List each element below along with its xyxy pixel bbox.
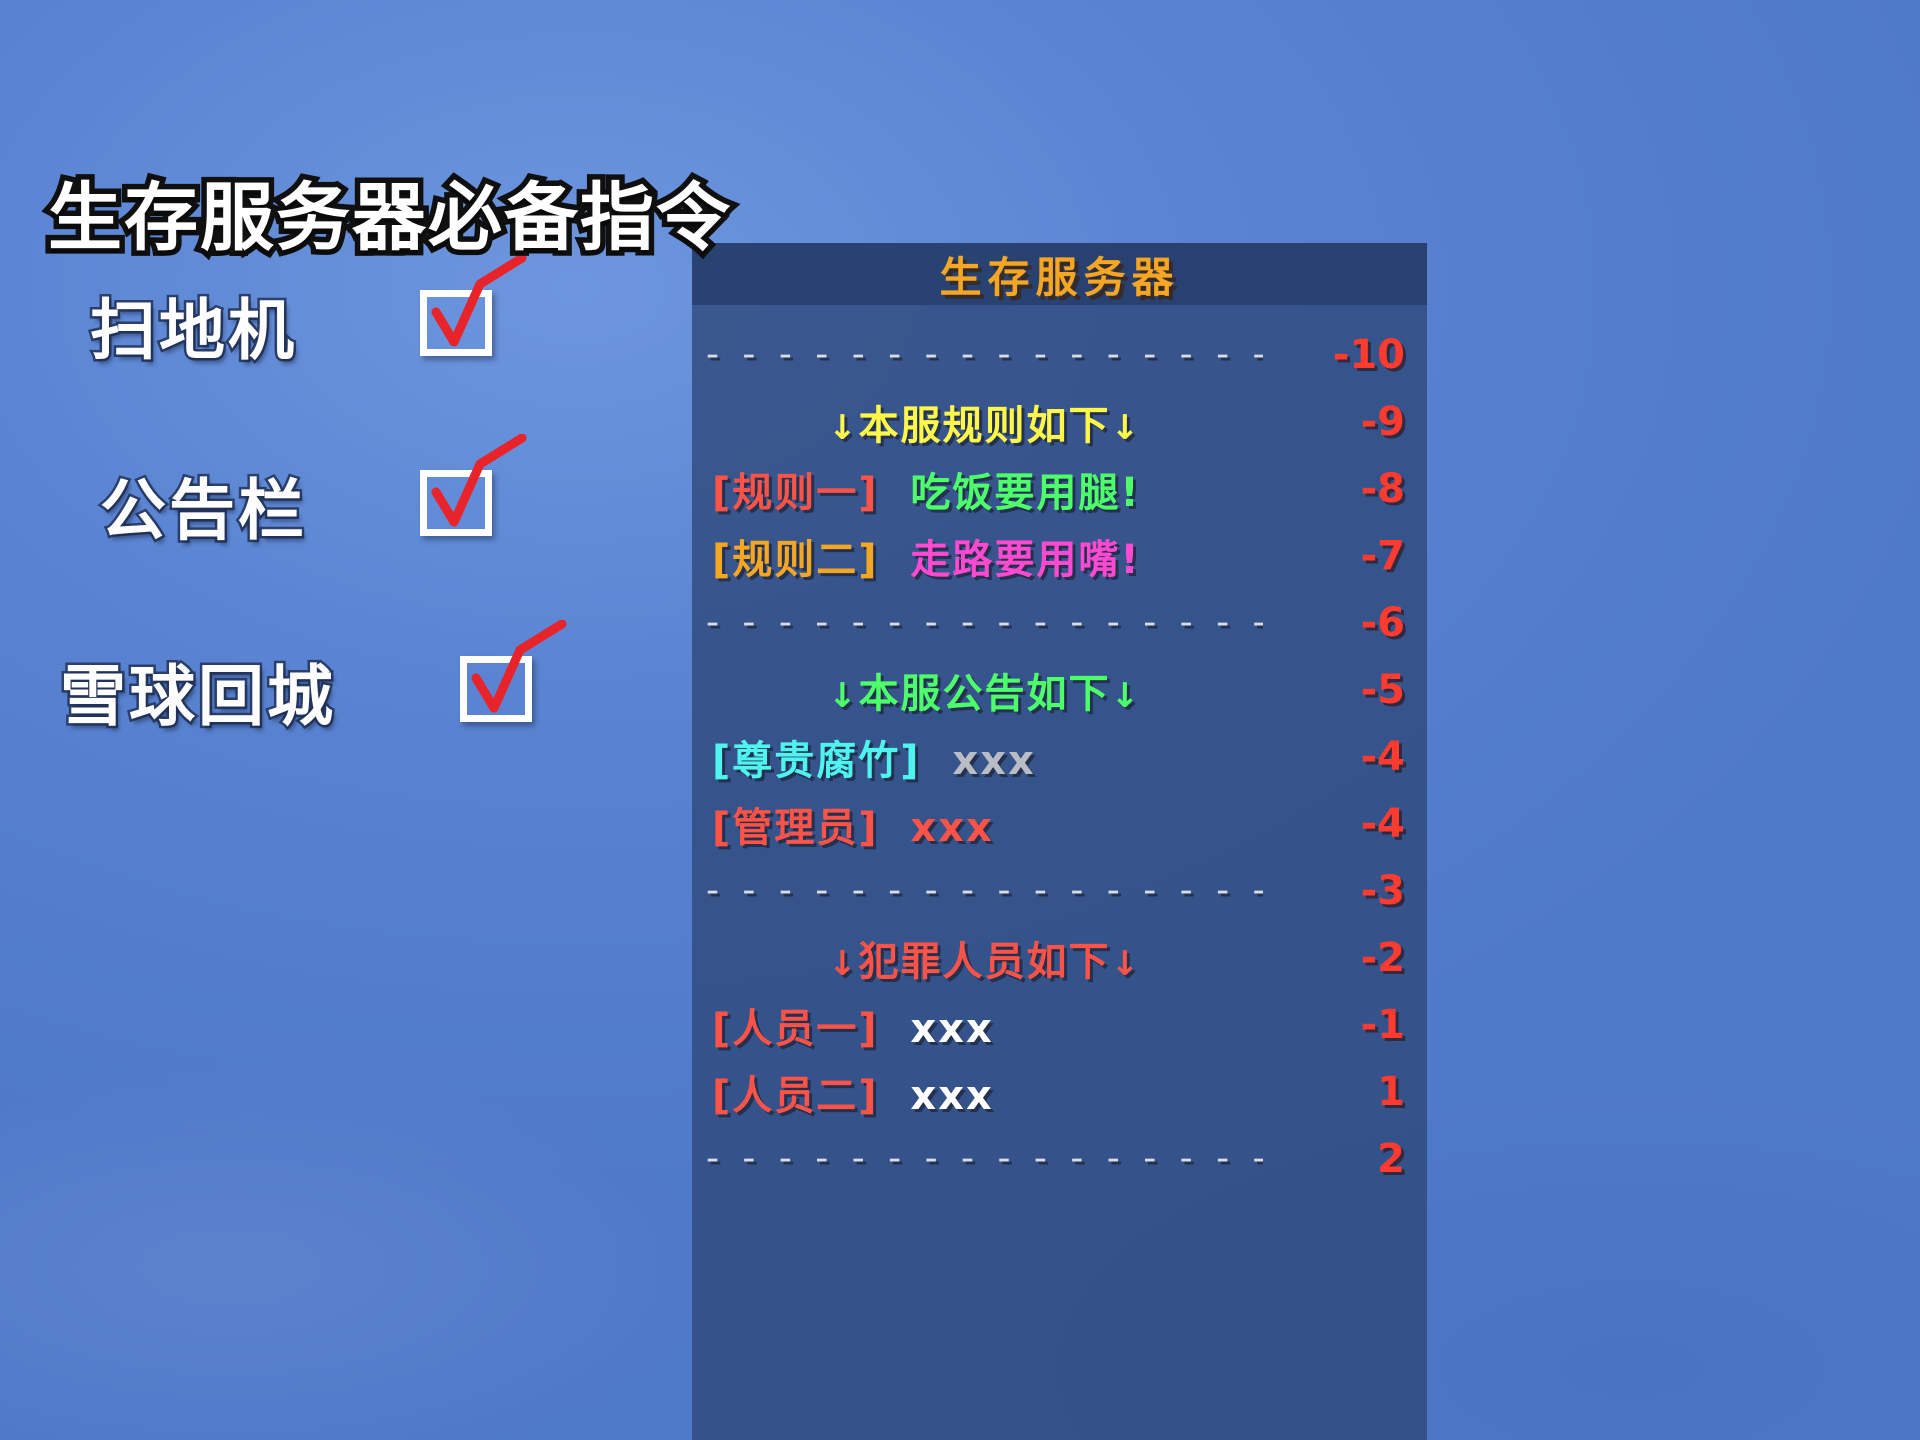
arrow-down-icon: ↓ [828,944,859,984]
checklist-item[interactable]: 公告栏 [60,430,680,580]
scoreboard-row: ↓本服规则如下↓-9 [692,388,1427,455]
scoreboard-separator: - - - - - - - - - - - - - - - - - - [706,334,1309,375]
scoreboard-separator: - - - - - - - - - - - - - - - - - - [706,1138,1309,1179]
entry-value: xxx [952,738,1035,784]
checklist-item-label: 雪球回城 [60,643,460,739]
scoreboard-score: -2 [1309,935,1405,981]
checkbox-outline [460,656,532,722]
scoreboard-title-bar: 生存服务器 [692,243,1427,305]
scoreboard-score: -3 [1309,868,1405,914]
scoreboard-entry: [人员二] xxx [706,1063,1309,1121]
scoreboard-row: [人员二] xxx1 [692,1058,1427,1125]
scoreboard-section-heading: ↓犯罪人员如下↓ [706,929,1309,987]
checklist-item-label: 扫地机 [90,277,420,373]
scoreboard-row: [规则一] 吃饭要用腿!-8 [692,455,1427,522]
checkbox[interactable] [420,282,510,368]
entry-tag: [规则二] [712,537,879,583]
entry-tag: [人员一] [712,1006,879,1052]
entry-tag: [规则一] [712,470,879,516]
feature-checklist: 扫地机 公告栏 雪球回城 [60,250,680,766]
checkbox-outline [420,470,492,536]
scoreboard-row: - - - - - - - - - - - - - - - - - --3 [692,857,1427,924]
scoreboard-score: 2 [1309,1136,1405,1182]
entry-spacer [879,470,911,516]
checklist-item[interactable]: 扫地机 [60,250,680,400]
separator-dashes: - - - - - - - - - - - - - - - - - - [706,602,1263,643]
separator-dashes: - - - - - - - - - - - - - - - - - - [706,1138,1263,1179]
checkbox-outline [420,290,492,356]
entry-tag: [管理员] [712,805,879,851]
scoreboard-row: ↓犯罪人员如下↓-2 [692,924,1427,991]
entry-value: xxx [910,805,993,851]
minecraft-scoreboard-panel: 生存服务器 - - - - - - - - - - - - - - - - - … [692,243,1427,1440]
entry-spacer [879,1073,911,1119]
entry-spacer [879,537,911,583]
entry-value: xxx [910,1006,993,1052]
scoreboard-entry: [人员一] xxx [706,996,1309,1054]
scoreboard-row: [管理员] xxx-4 [692,790,1427,857]
entry-spacer [879,805,911,851]
scoreboard-row: [规则二] 走路要用嘴!-7 [692,522,1427,589]
scoreboard-score: -6 [1309,600,1405,646]
scoreboard-row: - - - - - - - - - - - - - - - - - --10 [692,321,1427,388]
arrow-down-icon: ↓ [1111,944,1142,984]
section-heading-label: 本服公告如下 [859,671,1111,717]
scoreboard-score: -9 [1309,399,1405,445]
checklist-item[interactable]: 雪球回城 [60,616,680,766]
scoreboard-separator: - - - - - - - - - - - - - - - - - - [706,602,1309,643]
arrow-down-icon: ↓ [1111,408,1142,448]
scoreboard-score: -1 [1309,1002,1405,1048]
scoreboard-title: 生存服务器 [939,244,1179,305]
scoreboard-score: -10 [1309,332,1405,378]
scoreboard-separator: - - - - - - - - - - - - - - - - - - [706,870,1309,911]
separator-dashes: - - - - - - - - - - - - - - - - - - [706,870,1263,911]
scoreboard-section-heading: ↓本服公告如下↓ [706,661,1309,719]
checklist-item-label: 公告栏 [100,457,420,553]
scoreboard-score: -7 [1309,533,1405,579]
scoreboard-row: - - - - - - - - - - - - - - - - - -2 [692,1125,1427,1192]
scoreboard-entry: [规则一] 吃饭要用腿! [706,460,1309,518]
entry-value: xxx [910,1073,993,1119]
scoreboard-score: -5 [1309,667,1405,713]
arrow-down-icon: ↓ [1111,676,1142,716]
scoreboard-rows: - - - - - - - - - - - - - - - - - --10↓本… [692,305,1427,1192]
scoreboard-score: -4 [1309,734,1405,780]
section-heading-label: 本服规则如下 [859,403,1111,449]
entry-spacer [879,1006,911,1052]
entry-tag: [尊贵腐竹] [712,738,921,784]
entry-spacer [921,738,953,784]
checkbox[interactable] [460,648,550,734]
entry-value: 吃饭要用腿! [910,470,1140,516]
scoreboard-row: [尊贵腐竹] xxx-4 [692,723,1427,790]
separator-dashes: - - - - - - - - - - - - - - - - - - [706,334,1263,375]
section-heading-label: 犯罪人员如下 [859,939,1111,985]
scoreboard-entry: [管理员] xxx [706,795,1309,853]
scoreboard-section-heading: ↓本服规则如下↓ [706,393,1309,451]
scoreboard-row: ↓本服公告如下↓-5 [692,656,1427,723]
scoreboard-entry: [规则二] 走路要用嘴! [706,527,1309,585]
entry-value: 走路要用嘴! [910,537,1140,583]
scoreboard-entry: [尊贵腐竹] xxx [706,728,1309,786]
arrow-down-icon: ↓ [828,408,859,448]
scoreboard-score: -4 [1309,801,1405,847]
scoreboard-score: -8 [1309,466,1405,512]
entry-tag: [人员二] [712,1073,879,1119]
page-title: 生存服务器必备指令 [48,158,732,265]
scoreboard-row: - - - - - - - - - - - - - - - - - --6 [692,589,1427,656]
scoreboard-row: [人员一] xxx-1 [692,991,1427,1058]
scoreboard-score: 1 [1309,1069,1405,1115]
checkbox[interactable] [420,462,510,548]
arrow-down-icon: ↓ [828,676,859,716]
